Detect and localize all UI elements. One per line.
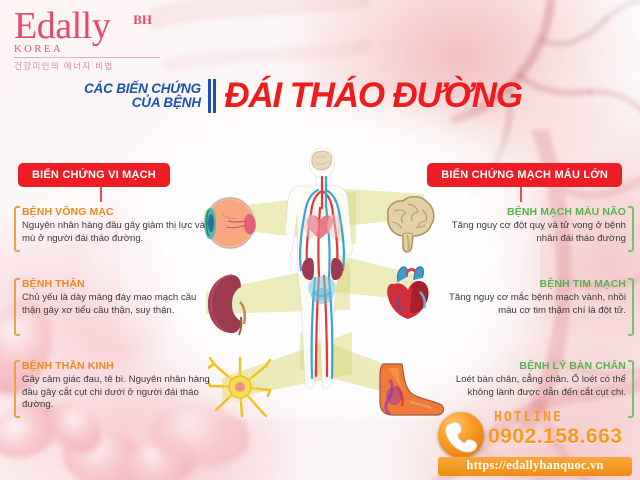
info-block-body: Gây cảm giác đau, tê bì. Nguyên nhân hàn… (22, 374, 214, 412)
hotline-number[interactable]: 0902.158.663 (488, 425, 622, 449)
title-subtitle-line2: CỦA BỆNH (84, 96, 201, 111)
info-block-cerebrovascular: BỆNH MẠCH MÁU NÃO Tăng nguy cơ đột quỵ v… (434, 206, 626, 245)
nerve-icon (208, 356, 272, 418)
page-title: CÁC BIẾN CHỨNG CỦA BỆNH ĐÁI THÁO ĐƯỜNG (84, 78, 522, 114)
title-divider-bars (208, 79, 217, 113)
info-block-nephropathy: BỆNH THẬN Chủ yếu là dày màng đáy mao mạ… (22, 278, 214, 317)
bracket-cerebrovascular (628, 206, 634, 252)
brand-superscript: BH (133, 12, 152, 28)
heart-icon (382, 262, 438, 320)
bracket-retinopathy (14, 206, 20, 252)
infographic-canvas: Edally BH KOREA 건강미인의 에너지 비법 CÁC BIẾN CH… (0, 0, 640, 480)
brand-logo: Edally BH KOREA 건강미인의 에너지 비법 (14, 6, 164, 72)
section-header-macrovascular: BIẾN CHỨNG MẠCH MÁU LỚN (427, 163, 622, 187)
info-block-neuropathy: BỆNH THẦN KINH Gây cảm giác đau, tê bì. … (22, 360, 214, 412)
info-block-heading: BỆNH MẠCH MÁU NÃO (434, 206, 626, 218)
brand-tagline: 건강미인의 에너지 비법 (14, 60, 164, 72)
info-block-body: Loét bàn chân, cẳng chân. Ổ loét có thể … (434, 374, 626, 399)
info-block-heading: BỆNH TIM MẠCH (434, 278, 626, 290)
hotline-label: HOTLINE (494, 410, 563, 425)
bracket-cardiovascular (628, 278, 634, 336)
info-block-heading: BỆNH LÝ BÀN CHÂN (434, 360, 626, 372)
info-block-heading: BỆNH THẦN KINH (22, 360, 214, 372)
info-block-heading: BỆNH VÕNG MẠC (22, 206, 214, 218)
pill-stem-left (100, 186, 102, 202)
brain-icon (378, 196, 438, 254)
info-block-foot: BỆNH LÝ BÀN CHÂN Loét bàn chân, cẳng châ… (434, 360, 626, 399)
info-block-body: Nguyên nhân hàng đầu gây giảm thị lực và… (22, 220, 214, 245)
info-block-heading: BỆNH THẬN (22, 278, 214, 290)
title-subtitle-line1: CÁC BIẾN CHỨNG (84, 82, 201, 97)
info-block-body: Tăng nguy cơ mắc bệnh mạch vành, nhồi má… (434, 292, 626, 317)
human-body-circulatory-figure (286, 146, 358, 398)
pill-stem-right (520, 186, 522, 202)
title-main: ĐÁI THÁO ĐƯỜNG (224, 78, 521, 114)
info-block-cardiovascular: BỆNH TIM MẠCH Tăng nguy cơ mắc bệnh mạch… (434, 278, 626, 317)
phone-icon (438, 412, 484, 458)
info-block-body: Tăng nguy cơ đột quỵ và tử vong ở bệnh n… (434, 220, 626, 245)
logo-divider (14, 57, 160, 58)
section-header-microvascular: BIẾN CHỨNG VI MẠCH (18, 163, 170, 187)
info-block-retinopathy: BỆNH VÕNG MẠC Nguyên nhân hàng đầu gây g… (22, 206, 214, 245)
bracket-nephropathy (14, 278, 20, 336)
website-url[interactable]: https://edallyhanquoc.vn (438, 458, 632, 473)
info-block-body: Chủ yếu là dày màng đáy mao mạch cầu thậ… (22, 292, 214, 317)
title-subtitle: CÁC BIẾN CHỨNG CỦA BỆNH (84, 82, 201, 111)
bracket-neuropathy (14, 360, 20, 418)
hotline-block: HOTLINE 0902.158.663 https://edallyhanqu… (432, 406, 632, 476)
